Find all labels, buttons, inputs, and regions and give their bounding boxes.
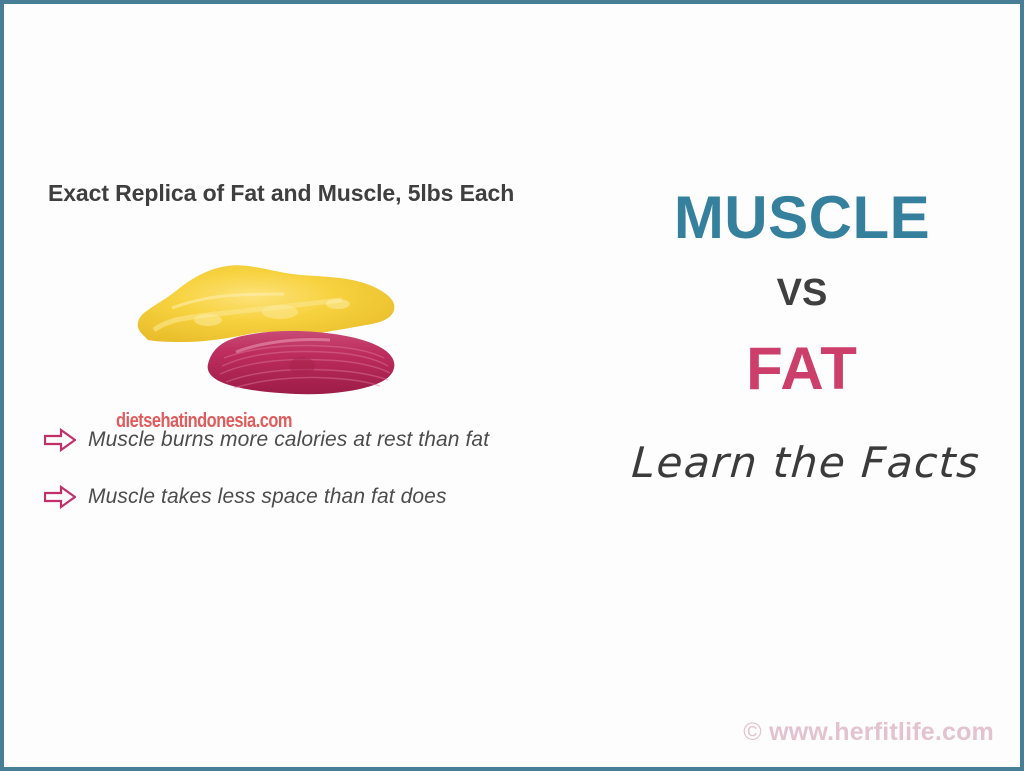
fat-vs-muscle-photo bbox=[112, 242, 428, 402]
fat-speck bbox=[262, 305, 298, 319]
heading-fat: FAT bbox=[632, 339, 972, 399]
site-watermark-label: www.herfitlife.com bbox=[769, 718, 994, 746]
fat-speck bbox=[194, 314, 222, 326]
heading-vs: VS bbox=[632, 274, 972, 312]
page-title: Exact Replica of Fat and Muscle, 5lbs Ea… bbox=[48, 180, 514, 207]
muscle-dimple bbox=[289, 357, 315, 375]
specimen-illustration bbox=[112, 242, 428, 402]
list-item: Muscle burns more calories at rest than … bbox=[44, 428, 489, 452]
infographic-poster: Exact Replica of Fat and Muscle, 5lbs Ea… bbox=[0, 0, 1024, 771]
copyright-icon: © bbox=[743, 718, 762, 746]
tagline: Learn the Facts bbox=[614, 440, 997, 486]
right-arrow-icon bbox=[44, 485, 76, 509]
right-arrow-icon bbox=[44, 428, 76, 452]
site-watermark: © www.herfitlife.com bbox=[743, 718, 994, 747]
list-item-label: Muscle burns more calories at rest than … bbox=[88, 428, 489, 452]
list-item-label: Muscle takes less space than fat does bbox=[88, 485, 447, 509]
heading-muscle: MUSCLE bbox=[632, 188, 972, 248]
list-item: Muscle takes less space than fat does bbox=[44, 485, 447, 509]
fat-mass-shape bbox=[138, 265, 395, 342]
fat-speck bbox=[326, 299, 350, 309]
